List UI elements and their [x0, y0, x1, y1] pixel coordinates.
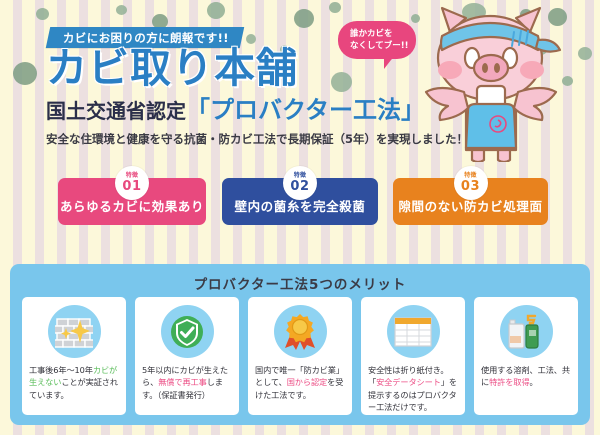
merits-panel: プロバクター工法5つのメリット 工事後 — [10, 264, 590, 425]
mold-blob-icon — [329, 2, 341, 13]
speech-bubble-line-1: 誰かカビを — [350, 28, 416, 40]
shield-check-icon — [161, 305, 214, 358]
merit-card-text: 使用する溶剤、工法、共に特許を取得。 — [481, 364, 571, 389]
merit-card-text: 5年以内にカビが生えたら、無償で再工事します。（保証書発行） — [142, 364, 232, 401]
pig-mascot-icon — [418, 0, 568, 162]
merit-card-list: 工事後6年〜10年カビが生えないことが実証されています。 5年以内にカビが生えた… — [22, 297, 578, 415]
merit-text-post: 。 — [530, 377, 538, 387]
page-title: カビ取り本舗 — [46, 48, 298, 89]
mold-blob-icon — [246, 34, 256, 44]
merit-text-highlight: 安全データシート — [376, 377, 441, 387]
merit-card[interactable]: 安全性は折り紙付き。「安全データシート」を提示するのはプロバクター工法だけです。 — [361, 297, 465, 415]
merit-card-text: 安全性は折り紙付き。「安全データシート」を提示するのはプロバクター工法だけです。 — [368, 364, 458, 413]
lead-text: 安全な住環境と健康を守る抗菌・防カビ工法で長期保証（5年）を実現しました！ — [46, 131, 468, 147]
mold-blob-icon — [36, 8, 49, 20]
mold-blob-icon — [331, 72, 352, 92]
speech-bubble: 誰かカビを なくしてブー!! — [338, 21, 416, 59]
merit-text-highlight: 特許を取得 — [489, 377, 529, 387]
feature-badge-02: 特徴 02 — [283, 166, 317, 200]
merit-card[interactable]: 5年以内にカビが生えたら、無償で再工事します。（保証書発行） — [135, 297, 239, 415]
merit-card[interactable]: 使用する溶剤、工法、共に特許を取得。 — [474, 297, 578, 415]
mold-blob-icon — [116, 5, 127, 15]
merit-card[interactable]: 工事後6年〜10年カビが生えないことが実証されています。 — [22, 297, 126, 415]
mold-blob-icon — [578, 47, 592, 60]
speech-bubble-line-2: なくしてブー!! — [350, 40, 416, 52]
mold-blob-icon — [294, 9, 314, 28]
subtitle-certification: 国土交通省認定 — [46, 99, 186, 123]
feature-box-03[interactable]: 特徴 03 隙間のない防カビ処理面 — [393, 178, 548, 225]
merits-panel-title: プロバクター工法5つのメリット — [10, 273, 590, 293]
feature-badge-number: 03 — [461, 180, 480, 193]
merit-text-highlight: 国から認定 — [287, 377, 327, 387]
document-table-icon — [387, 305, 440, 358]
feature-badge-number: 01 — [122, 180, 141, 193]
merit-text-pre: 工事後6年〜10年 — [29, 365, 93, 375]
subtitle-method-name: 「プロバクター工法」 — [186, 96, 425, 124]
brick-wall-sparkle-icon — [48, 305, 101, 358]
subtitle: 国土交通省認定「プロバクター工法」 — [46, 98, 425, 122]
spray-bottle-icon — [500, 305, 553, 358]
mold-blob-icon — [13, 62, 37, 85]
merit-card-text: 国内で唯一「防カビ業」として、国から認定を受けた工法です。 — [255, 364, 345, 401]
award-medal-icon — [274, 305, 327, 358]
feature-badge-01: 特徴 01 — [115, 166, 149, 200]
feature-badge-03: 特徴 03 — [454, 166, 488, 200]
merit-card-text: 工事後6年〜10年カビが生えないことが実証されています。 — [29, 364, 119, 401]
merit-card[interactable]: 国内で唯一「防カビ業」として、国から認定を受けた工法です。 — [248, 297, 352, 415]
mold-blob-icon — [207, 2, 225, 19]
feature-badge-number: 02 — [290, 180, 309, 193]
feature-box-02[interactable]: 特徴 02 壁内の菌糸を完全殺菌 — [222, 178, 378, 225]
feature-box-01[interactable]: 特徴 01 あらゆるカビに効果あり — [58, 178, 206, 225]
page-root: カビにお困りの方に朗報です!! カビ取り本舗 国土交通省認定「プロバクター工法」… — [0, 0, 600, 435]
merit-text-highlight: 無償で再工事 — [158, 377, 207, 387]
